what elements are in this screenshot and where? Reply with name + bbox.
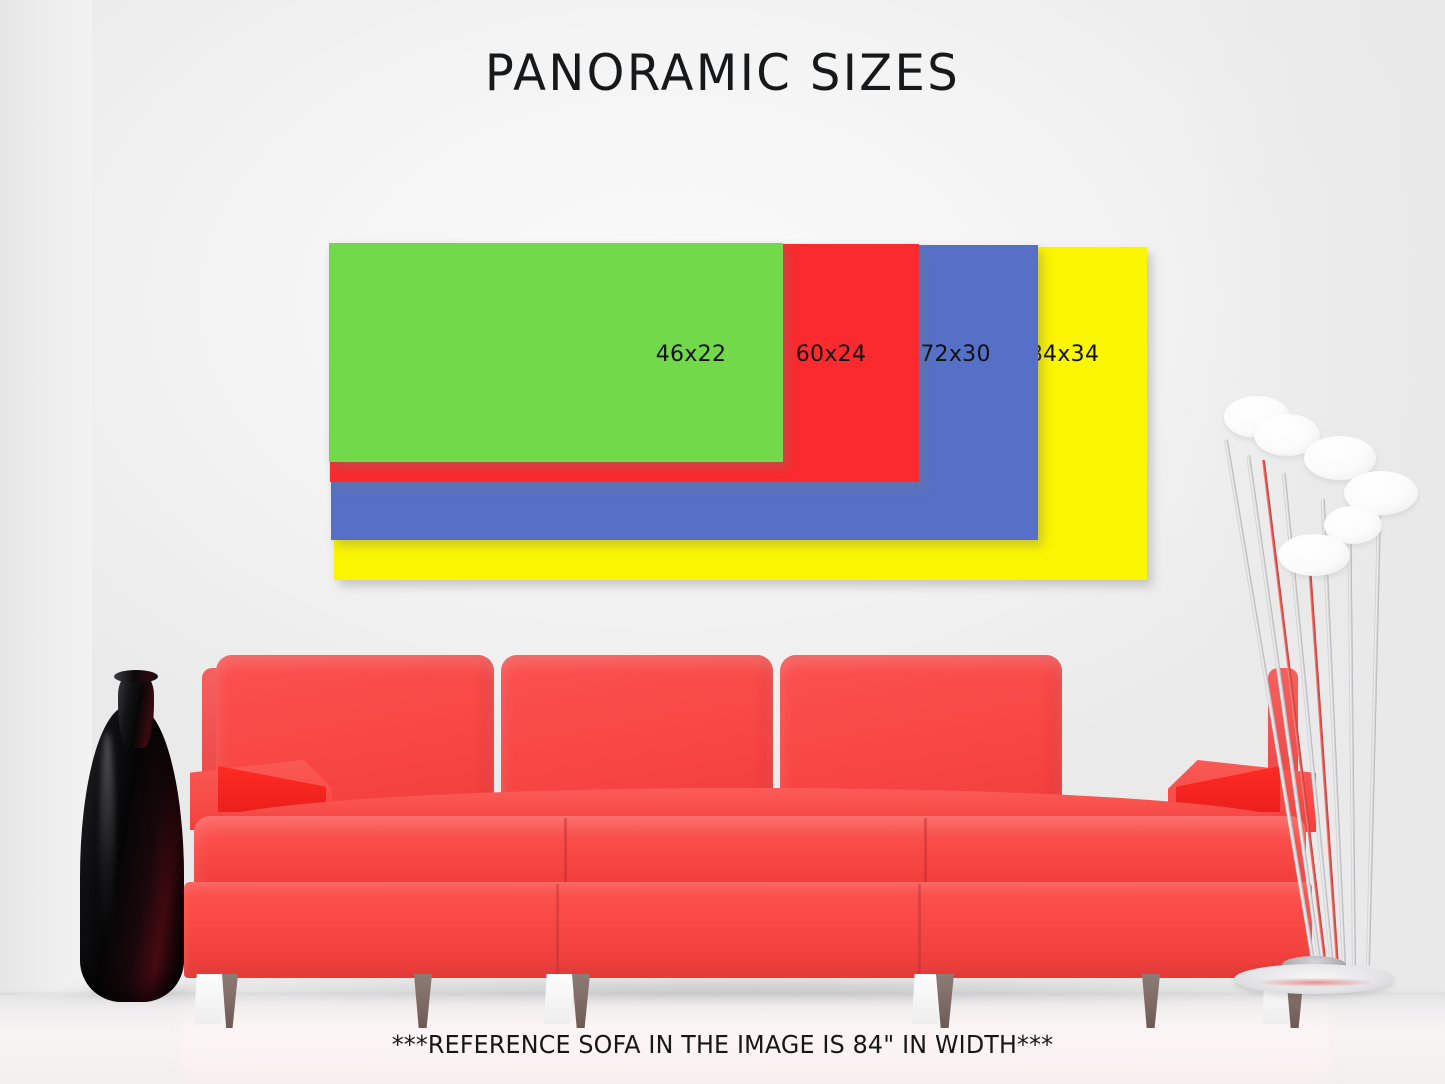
lamp-stem-6 [1366,516,1381,966]
size-rect-46x22[interactable]: 46x22 [329,243,783,462]
floor-lamp [1196,386,1445,1000]
lamp-shade-6 [1278,534,1350,576]
reference-note: ***REFERENCE SOFA IN THE IMAGE IS 84" IN… [36,1030,1409,1059]
lamp-stem-5 [1347,526,1356,966]
room-mockup-scene: PANORAMIC SIZES 84x34 72x30 60x24 46x22 [0,0,1445,1084]
reference-sofa [176,648,1324,998]
floor-vase [74,672,192,1002]
sofa-base-divider-1 [556,884,559,976]
vase-body [80,706,184,1002]
vase-highlight [100,732,115,952]
size-label-46x22: 46x22 [611,342,771,367]
lamp-stem-2 [1246,455,1322,967]
vase-neck [118,672,154,748]
sofa-base-divider-2 [918,884,921,976]
sofa-base [184,882,1312,978]
vase-lip [114,670,158,683]
lamp-base-reflection [1256,978,1374,987]
